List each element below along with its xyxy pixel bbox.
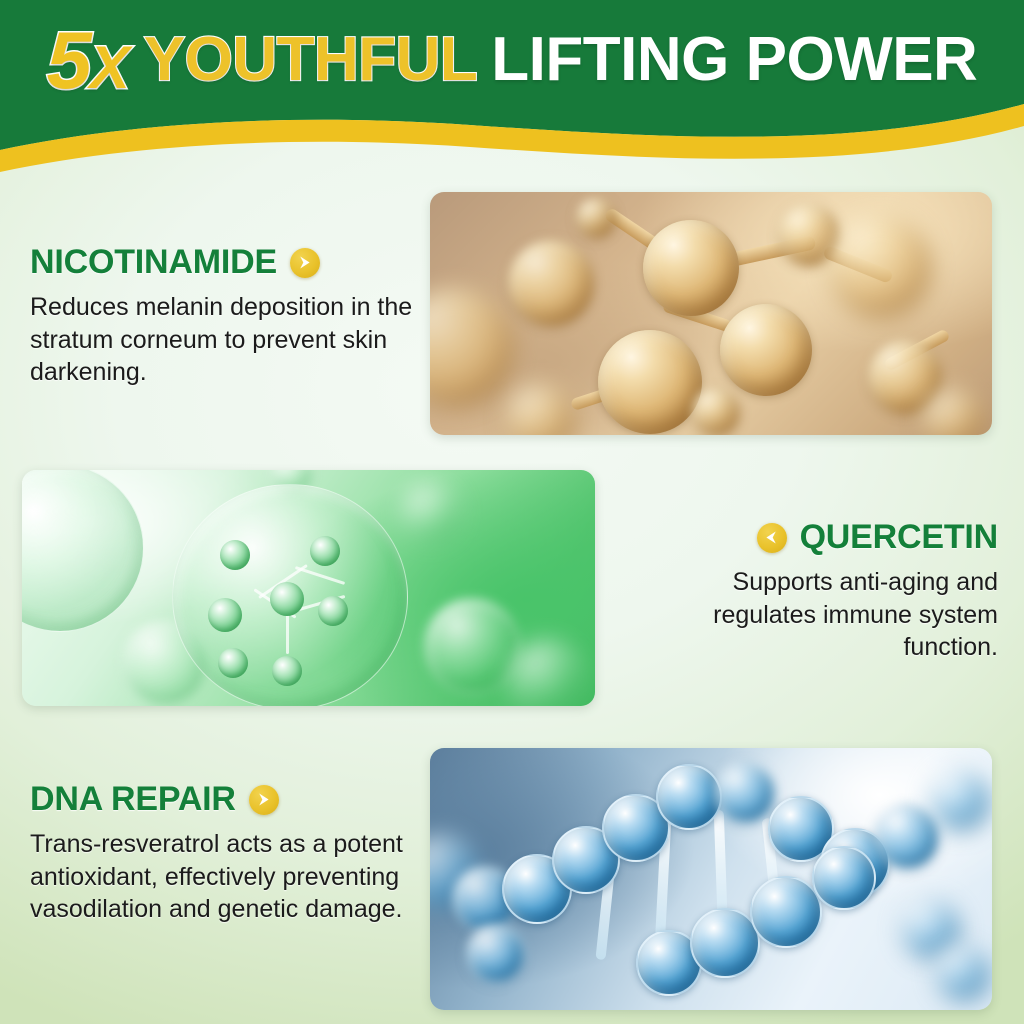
molecule-atom	[208, 598, 242, 632]
molecule-atom	[220, 540, 250, 570]
molecule-sphere	[576, 198, 616, 238]
dna-sphere	[690, 908, 760, 978]
title-multiplier: 5X	[47, 21, 128, 102]
bubble	[424, 598, 520, 694]
molecule-sphere	[720, 304, 812, 396]
title-multiplier-x: X	[90, 34, 128, 101]
ingredient-image-dna	[430, 748, 992, 1010]
arrow-right-icon[interactable]	[249, 785, 279, 815]
ingredient-image-quercetin	[22, 470, 595, 706]
ingredient-heading: NICOTINAMIDE	[30, 243, 428, 282]
molecule-atom	[270, 582, 304, 616]
ingredient-block-dna-repair: DNA REPAIR Trans-resveratrol acts as a p…	[30, 780, 422, 926]
molecule-sphere	[692, 388, 740, 435]
molecule-sphere	[828, 214, 932, 318]
dna-sphere	[874, 804, 940, 870]
title-rest: LIFTING POWER	[491, 24, 977, 95]
molecule-sphere	[508, 240, 594, 326]
ingredient-title: NICOTINAMIDE	[30, 243, 277, 282]
molecule-atom	[318, 596, 348, 626]
header-title: 5X YOUTHFUL LIFTING POWER	[0, 0, 1024, 118]
ingredient-heading: QUERCETIN	[640, 518, 998, 557]
molecule-atom	[218, 648, 248, 678]
ingredient-description: Trans-resveratrol acts as a potent antio…	[30, 828, 422, 926]
ingredient-block-quercetin: QUERCETIN Supports anti-aging and regula…	[640, 518, 998, 664]
ingredient-title: QUERCETIN	[800, 518, 998, 557]
ingredient-heading: DNA REPAIR	[30, 780, 422, 819]
molecule-atom	[272, 656, 302, 686]
dna-sphere	[714, 762, 776, 824]
arrow-left-icon[interactable]	[757, 523, 787, 553]
ingredient-description: Supports anti-aging and regulates immune…	[640, 566, 998, 664]
title-multiplier-number: 5	[47, 16, 90, 106]
dna-sphere	[928, 768, 992, 832]
dna-sphere	[466, 924, 526, 984]
ingredient-block-nicotinamide: NICOTINAMIDE Reduces melanin deposition …	[30, 243, 428, 389]
dna-sphere	[812, 846, 876, 910]
arrow-right-icon[interactable]	[290, 248, 320, 278]
molecule-sphere	[643, 220, 739, 316]
title-highlight: YOUTHFUL	[144, 24, 478, 95]
dna-sphere	[750, 876, 822, 948]
molecule-atom	[310, 536, 340, 566]
dna-sphere	[656, 764, 722, 830]
ingredient-image-nicotinamide	[430, 192, 992, 435]
dna-sphere	[934, 944, 992, 1002]
bubble	[400, 482, 462, 544]
ingredient-description: Reduces melanin deposition in the stratu…	[30, 291, 428, 389]
ingredient-title: DNA REPAIR	[30, 780, 236, 819]
molecule-sphere	[598, 330, 702, 434]
